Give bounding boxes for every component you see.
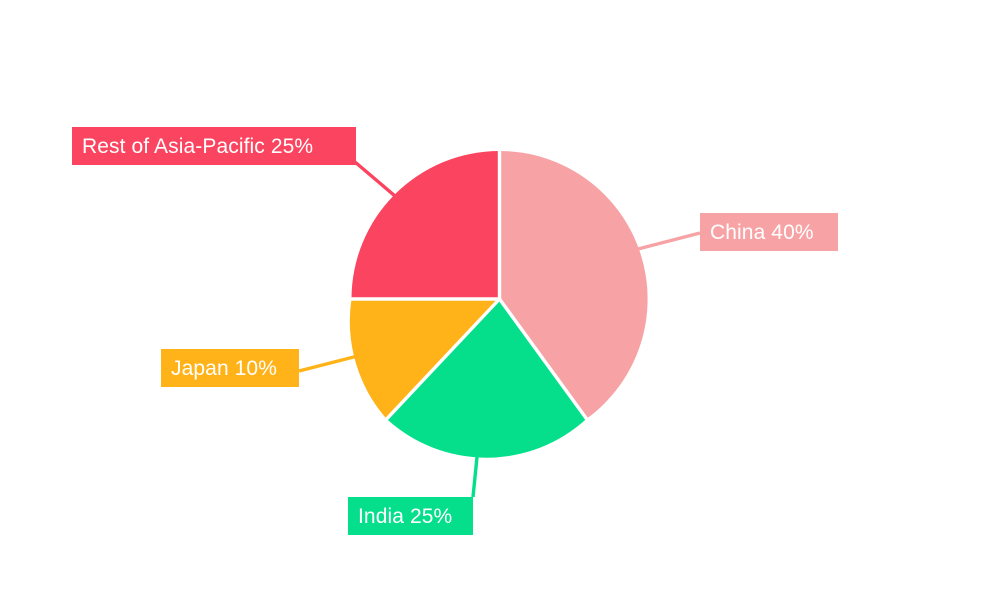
pie-label-india[interactable]: India 25% [348, 497, 473, 535]
pie-label-japan-text: Japan 10% [171, 358, 277, 379]
pie-label-rest-of-asia-pacific[interactable]: Rest of Asia-Pacific 25% [72, 127, 356, 165]
pie-label-china-text: China 40% [710, 222, 814, 243]
pie-label-china[interactable]: China 40% [700, 213, 838, 251]
leader-line-rest-of-asia-pacific [355, 162, 395, 196]
pie-chart-canvas [0, 0, 1000, 600]
pie-slice-rest-of-asia-pacific[interactable] [352, 151, 500, 299]
pie-label-japan[interactable]: Japan 10% [161, 349, 299, 387]
leader-line-china [638, 233, 700, 249]
pie-label-rest-of-asia-pacific-text: Rest of Asia-Pacific 25% [82, 136, 313, 157]
pie-label-india-text: India 25% [358, 506, 452, 527]
pie-chart: Rest of Asia-Pacific 25% China 40% Japan… [0, 0, 1000, 600]
